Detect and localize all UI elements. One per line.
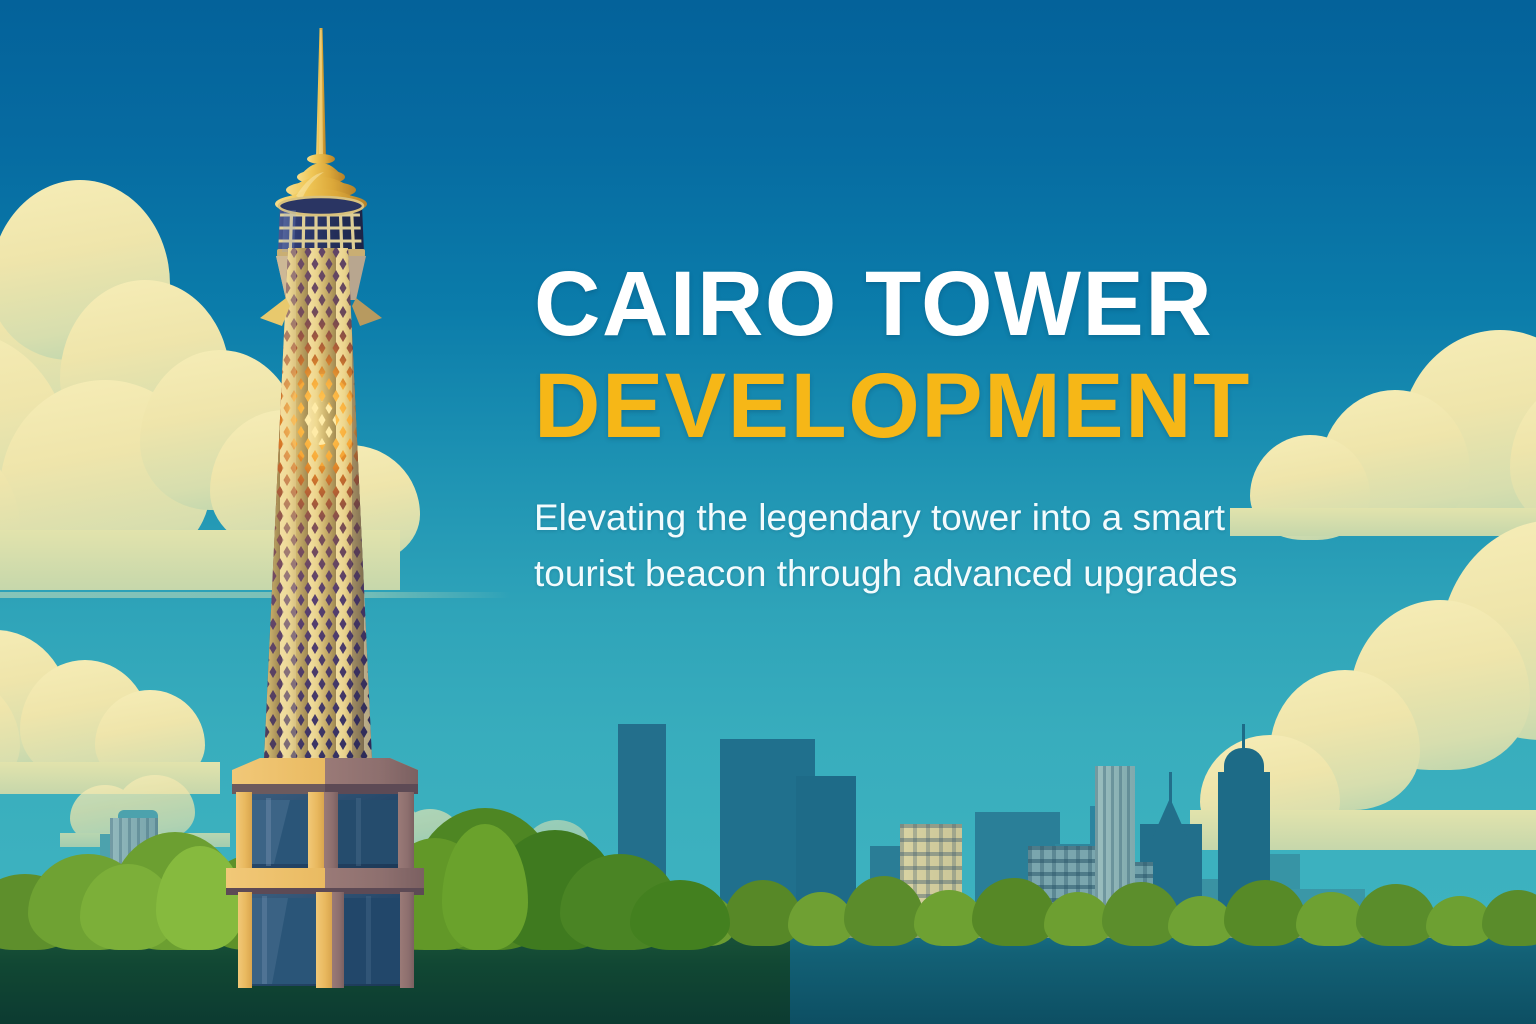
tower-dome-top	[307, 154, 335, 164]
title-block: CAIRO TOWER DEVELOPMENT Elevating the le…	[534, 258, 1434, 602]
tree-line-right	[620, 866, 1536, 946]
cairo-tower	[0, 0, 520, 1024]
subtitle-text: Elevating the legendary tower into a sma…	[534, 490, 1334, 602]
tower-flare-right	[352, 298, 382, 326]
title-line-primary: CAIRO TOWER	[534, 258, 1434, 350]
poster-canvas: CAIRO TOWER DEVELOPMENT Elevating the le…	[0, 0, 1536, 1024]
title-line-accent: DEVELOPMENT	[534, 358, 1434, 456]
